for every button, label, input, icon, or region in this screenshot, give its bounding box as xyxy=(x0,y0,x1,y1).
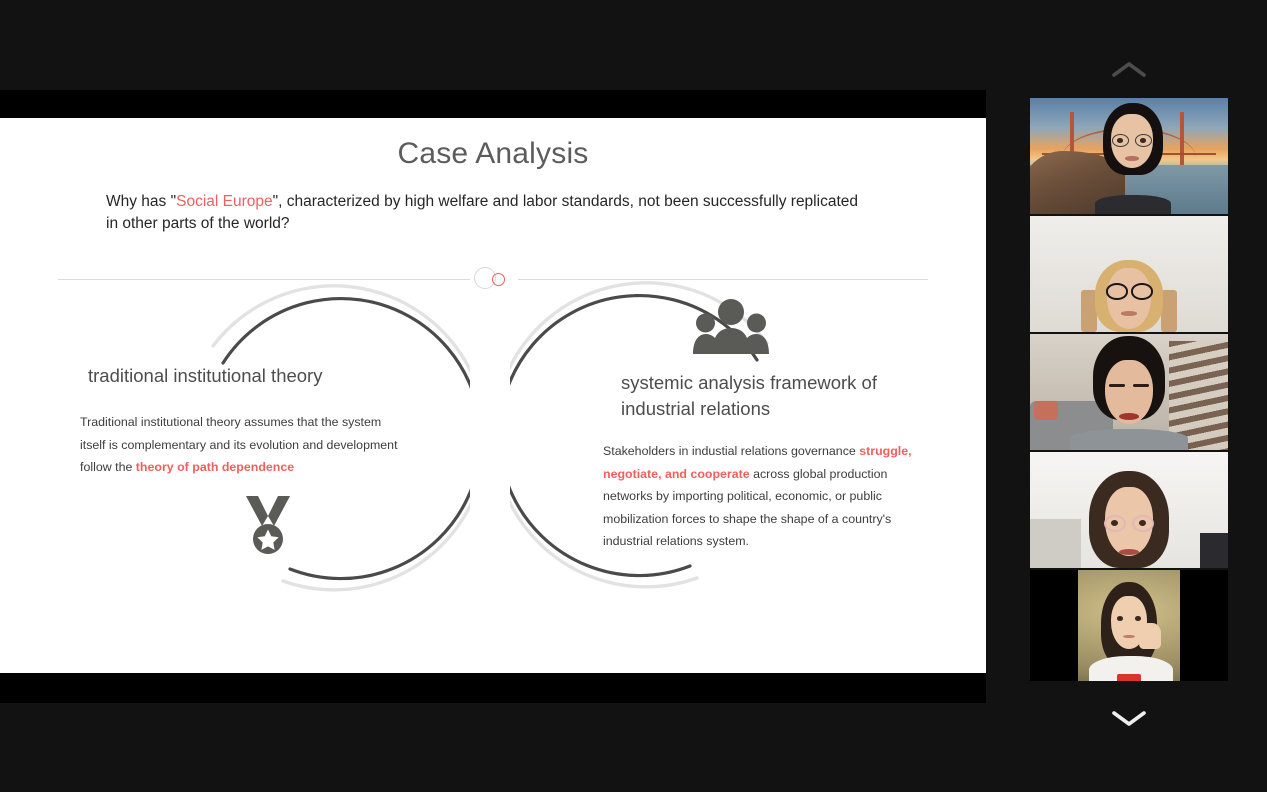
participant-video xyxy=(1030,98,1228,214)
people-group-icon xyxy=(693,298,769,356)
right-column-body: Stakeholders in industial relations gove… xyxy=(603,440,933,553)
slide-divider xyxy=(58,264,928,294)
participant-tile[interactable] xyxy=(1030,334,1228,450)
participants-scroll-down-button[interactable] xyxy=(1106,704,1152,732)
chevron-down-icon xyxy=(1106,704,1152,732)
participant-tile[interactable] xyxy=(1030,98,1228,214)
question-highlight: Social Europe xyxy=(176,193,273,210)
medal-icon xyxy=(244,496,292,556)
participant-video xyxy=(1030,452,1228,568)
divider-rule-right xyxy=(518,279,928,280)
participant-tile[interactable] xyxy=(1030,216,1228,332)
left-column-body: Traditional institutional theory assumes… xyxy=(80,411,400,479)
divider-ring-small-icon xyxy=(492,273,505,286)
participant-video xyxy=(1030,216,1228,332)
participant-video xyxy=(1030,334,1228,450)
divider-rule-left xyxy=(58,279,470,280)
left-column-heading: traditional institutional theory xyxy=(88,363,418,389)
slide-question: Why has "Social Europe", characterized b… xyxy=(106,191,866,235)
question-text-before: Why has " xyxy=(106,193,176,210)
participant-tile[interactable] xyxy=(1030,452,1228,568)
chevron-up-icon xyxy=(1106,56,1152,84)
participant-filmstrip[interactable] xyxy=(1030,98,1228,681)
meeting-stage: Case Analysis Why has "Social Europe", c… xyxy=(0,0,1267,792)
presentation-slide[interactable]: Case Analysis Why has "Social Europe", c… xyxy=(0,118,986,673)
participant-video xyxy=(1030,570,1228,681)
participants-scroll-up-button[interactable] xyxy=(1106,56,1152,84)
participant-tile[interactable] xyxy=(1030,570,1228,681)
slide-title: Case Analysis xyxy=(0,137,986,171)
left-body-highlight: theory of path dependence xyxy=(136,460,294,474)
screen-share-area[interactable]: Case Analysis Why has "Social Europe", c… xyxy=(0,90,986,703)
right-column-heading: systemic analysis framework of industria… xyxy=(621,370,921,422)
right-body-before: Stakeholders in industial relations gove… xyxy=(603,444,859,458)
